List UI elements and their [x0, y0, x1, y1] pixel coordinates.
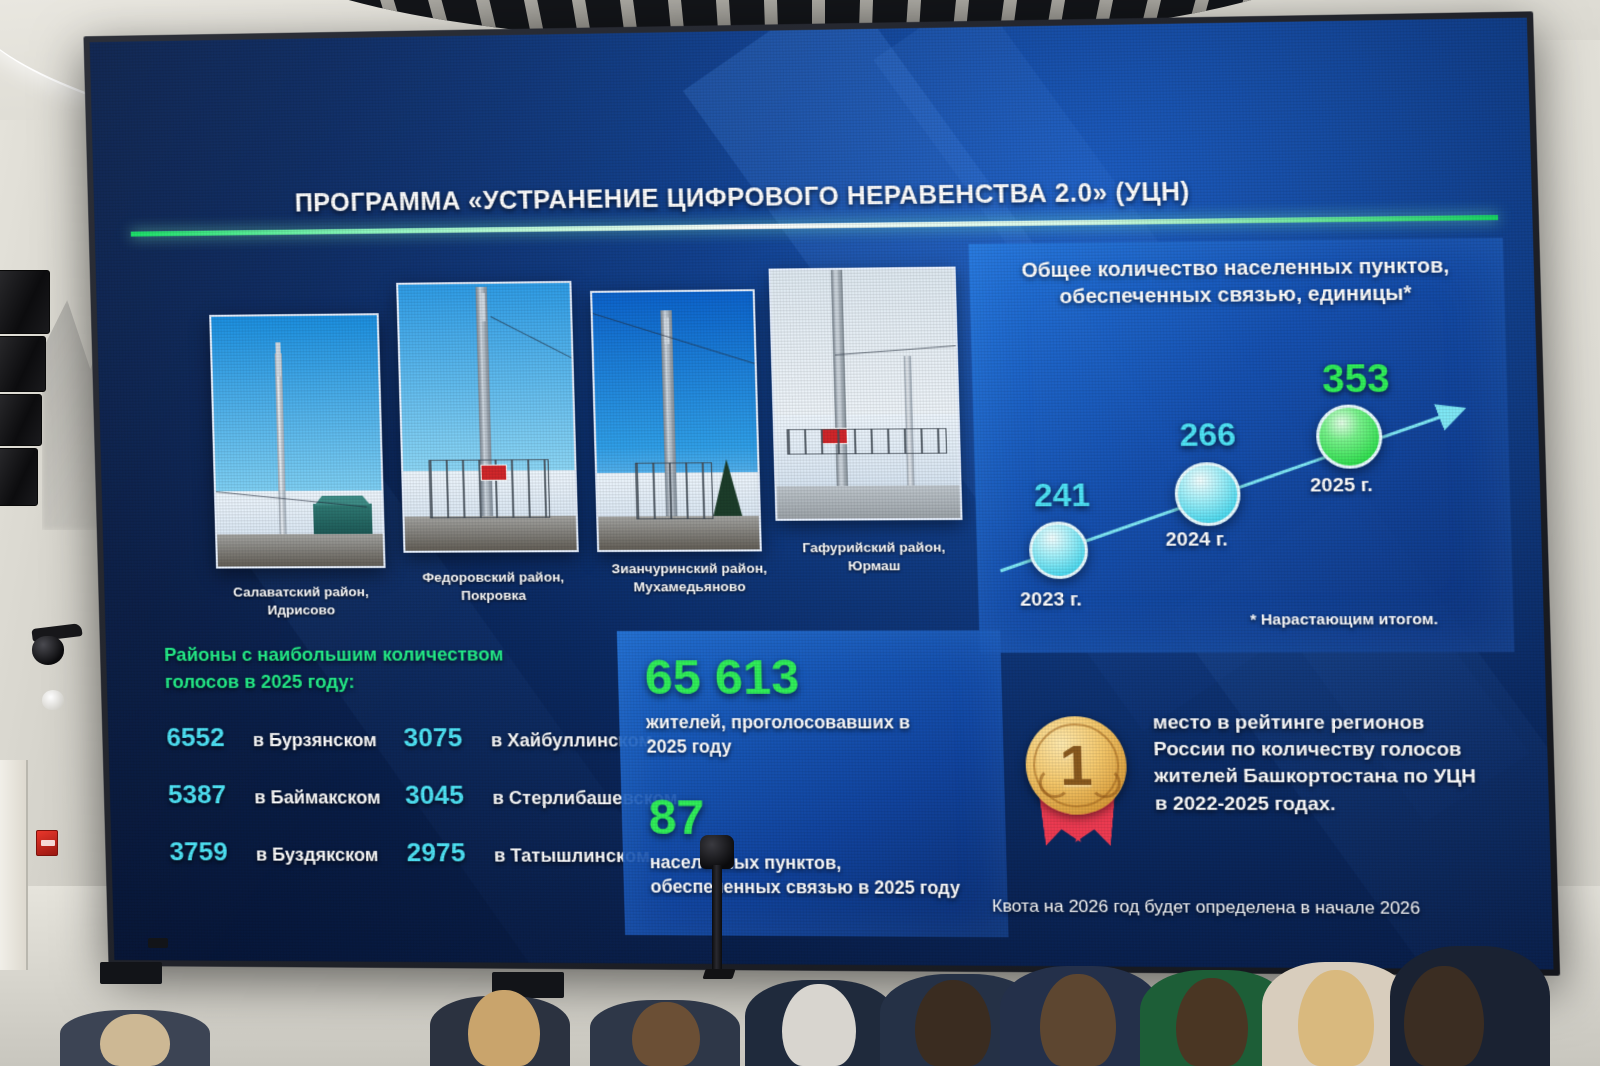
fire-alarm-button[interactable] — [36, 830, 58, 856]
conference-hall-room: ПРОГРАММА «УСТРАНЕНИЕ ЦИФРОВОГО НЕРАВЕНС… — [0, 0, 1600, 1066]
attendee-head — [468, 990, 540, 1066]
slide-canvas: ПРОГРАММА «УСТРАНЕНИЕ ЦИФРОВОГО НЕРАВЕНС… — [90, 18, 1554, 970]
voters-count-label: жителей, проголосовавших в 2025 году — [646, 711, 983, 759]
district-row: 5387 в Баймакском — [168, 779, 406, 811]
screen-bezel: ПРОГРАММА «УСТРАНЕНИЕ ЦИФРОВОГО НЕРАВЕНС… — [83, 11, 1560, 975]
district-votes: 5387 — [168, 779, 247, 810]
districts-block: Районы с наибольшим количеством голосов … — [164, 641, 647, 869]
photo-gallery: Салаватский район, Идрисово Федоровский … — [126, 265, 962, 579]
attendee-head — [1298, 970, 1374, 1066]
attendee-head — [1176, 978, 1248, 1066]
photo-zianchurinsky — [590, 289, 762, 552]
caption-line: Федоровский район, — [422, 569, 564, 585]
districts-left-column: 6552 в Бурзянском 5387 в Баймакском 3759… — [165, 696, 407, 868]
medal-rank-number: 1 — [1024, 716, 1128, 815]
heading-line: Районы с наибольшим количеством — [164, 643, 504, 665]
data-label-2024: 266 — [1179, 416, 1236, 454]
coverage-stat-panel: Общее количество населенных пунктов, обе… — [968, 238, 1514, 653]
ranking-line: место в рейтинге регионов — [1152, 712, 1424, 734]
district-votes: 2975 — [406, 837, 486, 869]
district-row: 2975 в Татышлинском — [406, 837, 647, 869]
caption-line: Салаватский район, — [233, 584, 369, 599]
voters-count-value: 65 613 — [644, 653, 981, 703]
label-line: обеспеченных связью в 2025 году — [650, 876, 960, 898]
caption-line: Покровка — [461, 588, 526, 603]
slide-title: ПРОГРАММА «УСТРАНЕНИЕ ЦИФРОВОГО НЕРАВЕНС… — [294, 177, 1225, 218]
district-name: в Баймакском — [254, 787, 381, 808]
label-line: 2025 году — [646, 736, 731, 756]
ranking-line: России по количеству голосов — [1153, 739, 1462, 761]
district-votes: 6552 — [166, 722, 245, 753]
photo-salavatsky — [209, 313, 385, 568]
caption-line: Юрмаш — [848, 558, 901, 573]
attendee-head — [915, 980, 991, 1066]
label-line: населенных пунктов, — [650, 852, 842, 873]
wall-ptz-camera-icon — [28, 626, 82, 666]
data-point-2023 — [1028, 521, 1088, 579]
districts-right-column: 3075 в Хайбуллинском 3045 в Стерлибашевс… — [402, 695, 647, 868]
axis-label-2025: 2025 г. — [1310, 475, 1373, 498]
label-line: жителей, проголосовавших в — [646, 712, 911, 732]
attendee-head — [632, 1002, 700, 1066]
data-label-2023: 241 — [1033, 476, 1090, 514]
ranking-line: в 2022-2025 годах. — [1155, 793, 1336, 815]
caption-line: Идрисово — [267, 603, 335, 618]
ranking-line: жителей Башкортостана по УЦН — [1154, 766, 1476, 788]
districts-heading: Районы с наибольшим количеством голосов … — [164, 641, 642, 695]
district-row: 3759 в Буздякском — [169, 836, 407, 868]
attendee-head — [782, 984, 856, 1066]
stat-panel-footnote: * Нарастающим итогом. — [1250, 611, 1438, 629]
growth-trend-chart: 241 266 353 2023 г. 2024 г. 2025 г. — [972, 362, 1513, 602]
district-row: 3045 в Стерлибашевском — [405, 779, 646, 811]
photo-fedorovsky — [396, 281, 579, 553]
district-name: в Буздякском — [256, 844, 379, 866]
ranking-text: место в рейтинге регионов России по коли… — [1152, 710, 1527, 819]
settlements-count-value: 87 — [648, 793, 985, 844]
caption-line: Гафурийский район, — [802, 539, 945, 555]
caption-line: Мухамедьяново — [633, 579, 746, 595]
photo-gafuriysky — [769, 267, 963, 521]
district-votes: 3759 — [169, 836, 248, 867]
data-point-2025 — [1315, 404, 1383, 468]
data-point-2024 — [1174, 462, 1241, 526]
district-name: в Бурзянском — [253, 730, 377, 751]
axis-label-2023: 2023 г. — [1020, 589, 1082, 612]
data-label-2025: 353 — [1322, 358, 1391, 403]
photo-caption-1: Салаватский район, Идрисово — [192, 583, 410, 620]
district-votes: 3045 — [405, 779, 485, 810]
attendee-head — [1040, 974, 1116, 1066]
attendee-head — [100, 1014, 170, 1066]
wall-mini-speaker — [42, 690, 64, 710]
attendee-head — [1404, 966, 1484, 1066]
district-votes: 3075 — [403, 722, 483, 753]
first-place-medal-icon: 1 — [1018, 716, 1135, 844]
led-presentation-screen: ПРОГРАММА «УСТРАНЕНИЕ ЦИФРОВОГО НЕРАВЕНС… — [83, 11, 1560, 975]
axis-label-2024: 2024 г. — [1165, 529, 1228, 552]
district-row: 6552 в Бурзянском — [166, 722, 404, 753]
stat-panel-heading: Общее количество населенных пунктов, обе… — [992, 252, 1480, 311]
highlight-stats-card: 65 613 жителей, проголосовавших в 2025 г… — [617, 630, 1009, 937]
audience-seating — [0, 896, 1600, 1066]
caption-line: Зианчуринский район, — [611, 561, 767, 577]
heading-line: голосов в 2025 году: — [165, 671, 355, 692]
title-accent-line — [131, 215, 1498, 237]
warning-sign — [480, 465, 507, 481]
district-row: 3075 в Хайбуллинском — [403, 722, 644, 754]
wall-speaker-array — [0, 270, 52, 520]
photo-caption-4: Гафурийский район, Юрмаш — [766, 538, 983, 576]
